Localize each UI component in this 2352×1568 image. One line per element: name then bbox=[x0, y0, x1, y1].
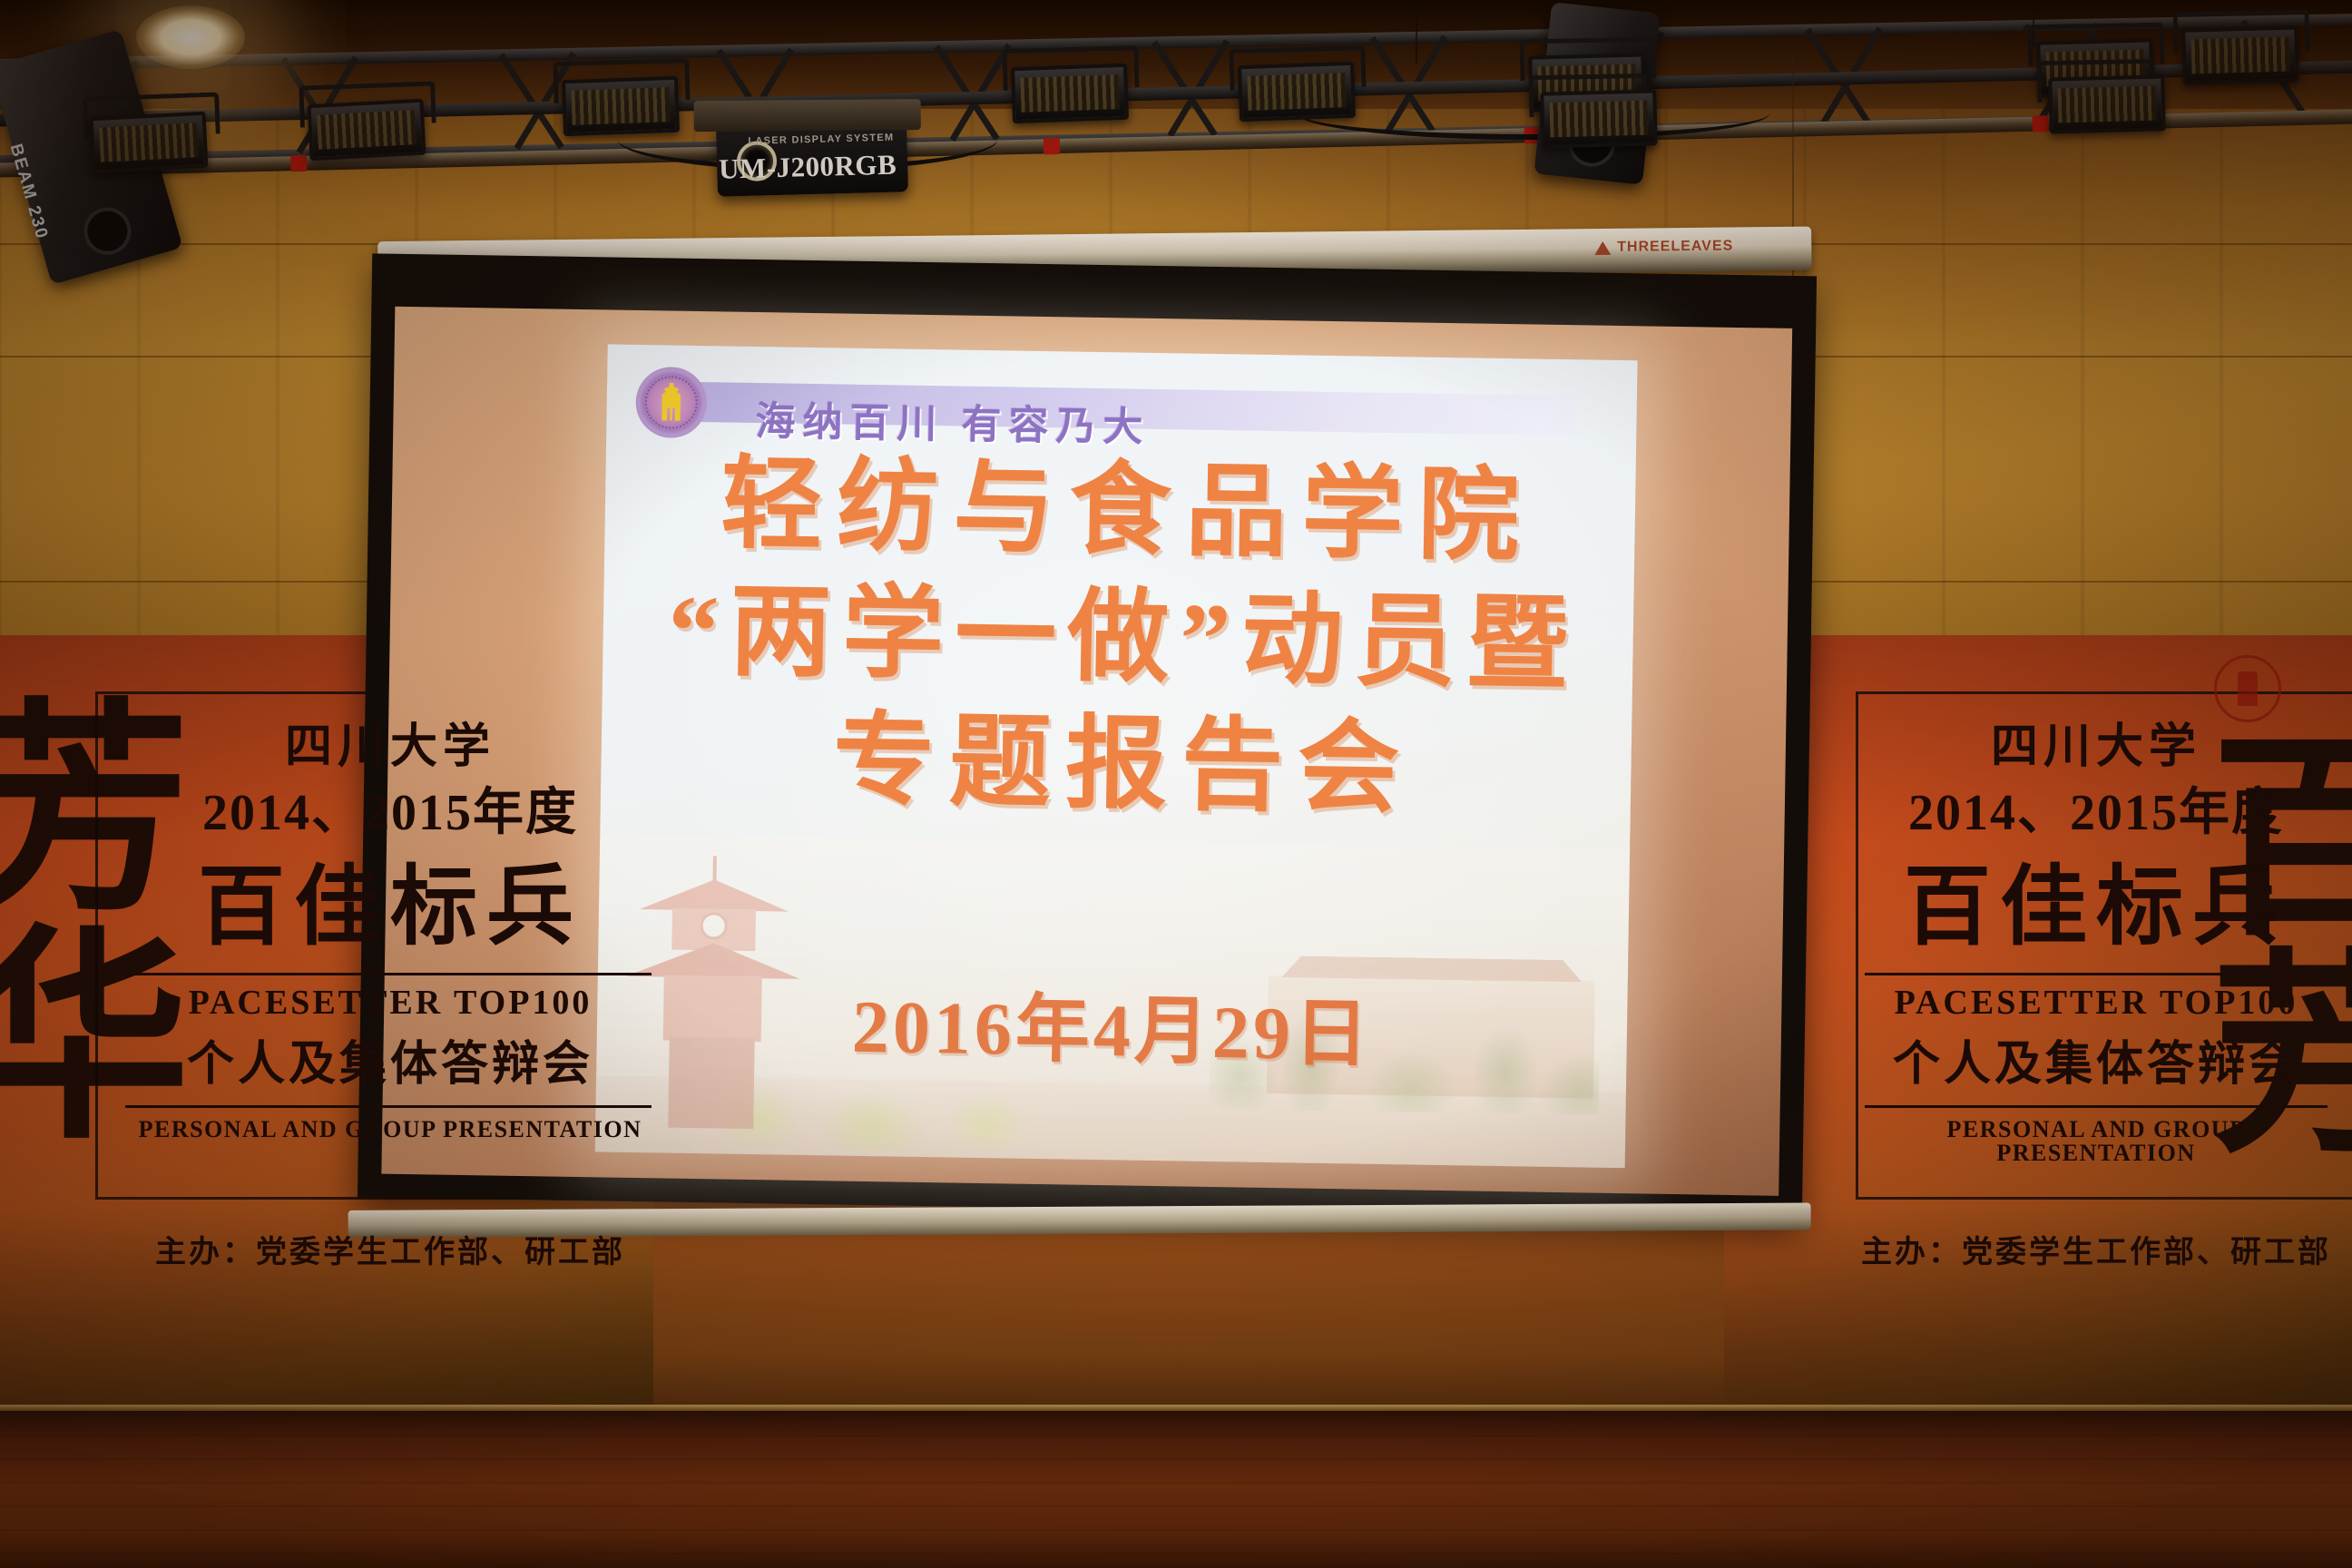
scu-emblem-icon bbox=[635, 367, 707, 438]
banner-english-title: PACESETTER TOP100 bbox=[122, 985, 653, 1020]
stage-light-glow bbox=[136, 5, 245, 69]
seal-stamp-icon bbox=[2214, 655, 2281, 722]
pipe-marker bbox=[1044, 138, 1060, 154]
screen-brand-label: THREELEAVES bbox=[1617, 238, 1733, 255]
pipe-marker bbox=[290, 155, 307, 171]
projector: LASER DISPLAY SYSTEM UM-J200RGB bbox=[716, 121, 908, 196]
screen-brand: THREELEAVES bbox=[1594, 238, 1733, 256]
par-light bbox=[307, 99, 426, 162]
slide-header: 海纳百川 有容乃大 bbox=[635, 367, 1580, 448]
slide-title-block: 轻纺与食品学院 “两学一做”动员暨 专题报告会 bbox=[601, 451, 1636, 825]
par-light bbox=[1238, 62, 1356, 122]
banner-english-subtitle: PERSONAL AND GROUP PRESENTATION bbox=[1860, 1118, 2332, 1165]
stage-floor bbox=[0, 1411, 2352, 1568]
screen-bottom-weight-bar bbox=[348, 1202, 1811, 1237]
par-light bbox=[2048, 74, 2166, 133]
slide-title-line-1: 轻纺与食品学院 bbox=[604, 451, 1636, 571]
banner-left: 芳华 四川大学 2014、2015年度 百佳标兵 PACESETTER TOP1… bbox=[0, 635, 653, 1452]
banner-main-title: 百佳标兵 bbox=[122, 864, 653, 951]
banner-divider bbox=[1865, 973, 2327, 975]
par-light bbox=[89, 112, 208, 174]
banner-english-subtitle: PERSONAL AND GROUP PRESENTATION bbox=[122, 1118, 653, 1142]
slide-motto: 海纳百川 有容乃大 bbox=[755, 388, 1151, 453]
auditorium-scene: 芳华 四川大学 2014、2015年度 百佳标兵 PACESETTER TOP1… bbox=[0, 0, 2352, 1568]
banner-divider bbox=[1865, 1105, 2327, 1108]
slide-title-line-3: 专题报告会 bbox=[601, 706, 1632, 826]
banner-english-title: PACESETTER TOP100 bbox=[1860, 985, 2332, 1020]
banner-organizer: 主办：党委学生工作部、研工部 bbox=[1860, 1238, 2332, 1269]
banner-university: 四川大学 bbox=[1860, 724, 2332, 771]
banner-subtitle: 个人及集体答辩会 bbox=[1860, 1042, 2332, 1089]
par-light bbox=[2181, 25, 2299, 84]
par-light bbox=[1540, 89, 1658, 148]
projector-sublabel: LASER DISPLAY SYSTEM bbox=[748, 132, 894, 147]
banner-years: 2014、2015年度 bbox=[122, 788, 653, 838]
banner-divider bbox=[125, 1105, 652, 1108]
banner-subtitle: 个人及集体答辩会 bbox=[122, 1042, 653, 1089]
projector-model-label: UM-J200RGB bbox=[719, 149, 897, 186]
moving-head-lens-icon bbox=[78, 202, 136, 260]
banner-divider bbox=[125, 973, 652, 975]
par-light bbox=[1011, 64, 1129, 123]
slide-title-line-2: “两学一做”动员暨 bbox=[603, 579, 1634, 699]
pipe-marker bbox=[2033, 115, 2049, 132]
tower-roof bbox=[640, 878, 789, 912]
slide-date: 2016年4月29日 bbox=[596, 961, 1628, 1085]
projected-slide: 海纳百川 有容乃大 bbox=[595, 344, 1638, 1168]
banner-organizer: 主办：党委学生工作部、研工部 bbox=[122, 1238, 653, 1269]
trefoil-logo-icon bbox=[1594, 240, 1611, 254]
banner-years: 2014、2015年度 bbox=[1860, 788, 2332, 838]
projector-mount bbox=[694, 99, 921, 132]
hanging-wire bbox=[1416, 0, 1417, 64]
par-light bbox=[562, 76, 680, 136]
banner-university: 四川大学 bbox=[122, 724, 653, 771]
banner-main-title: 百佳标兵 bbox=[1860, 864, 2332, 951]
